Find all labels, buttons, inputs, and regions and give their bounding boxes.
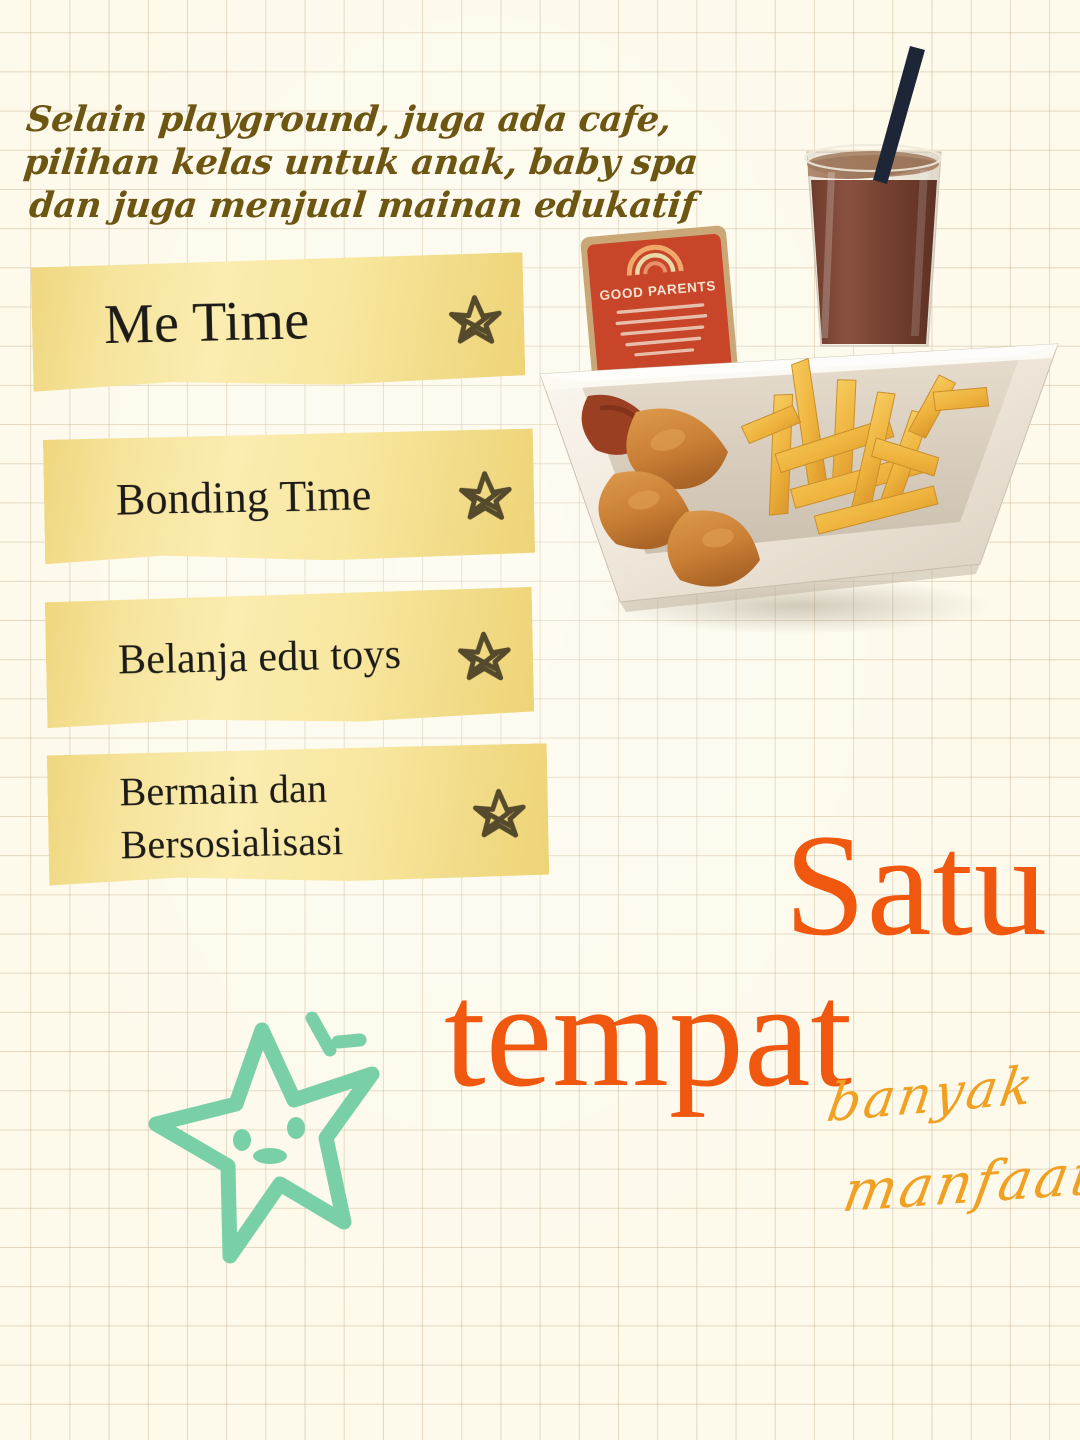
wordmark-line-1: Satu [784,812,1048,958]
headline-text: Selain playground, juga ada cafe, piliha… [15,98,629,227]
headline-line-2: pilihan kelas untuk anak, baby spa [20,141,625,184]
feature-banner-label-line-2: Bersosialisasi [120,818,344,867]
wordmark: Satu tempat banyak manfaat [440,812,1060,1142]
headline-line-3: dan juga menjual mainan edukatif [15,184,620,227]
feature-banner-label-line-1: Bermain dan [119,765,328,814]
feature-banner-label: Bermain dan Bersosialisasi [119,759,451,872]
feature-banner-belanja-edu-toys[interactable]: Belanja edu toys [45,587,535,728]
green-star-doodle-icon [144,988,392,1270]
star-doodle-icon [456,626,511,681]
wordmark-line-2: tempat [444,960,852,1110]
feature-banner-bonding-time[interactable]: Bonding Time [43,429,535,566]
feature-banner-label: Bonding Time [116,472,449,523]
feature-banner-me-time[interactable]: Me Time [31,252,526,392]
poster-canvas: Selain playground, juga ada cafe, piliha… [0,0,1080,1440]
feature-banner-label: Belanja edu toys [118,633,448,683]
headline-line-1: Selain playground, juga ada cafe, [24,98,629,141]
star-doodle-icon [457,466,512,521]
wordmark-accent-banyak: banyak [823,1055,1040,1134]
feature-banner-label: Me Time [103,290,438,355]
star-doodle-icon [447,290,502,345]
